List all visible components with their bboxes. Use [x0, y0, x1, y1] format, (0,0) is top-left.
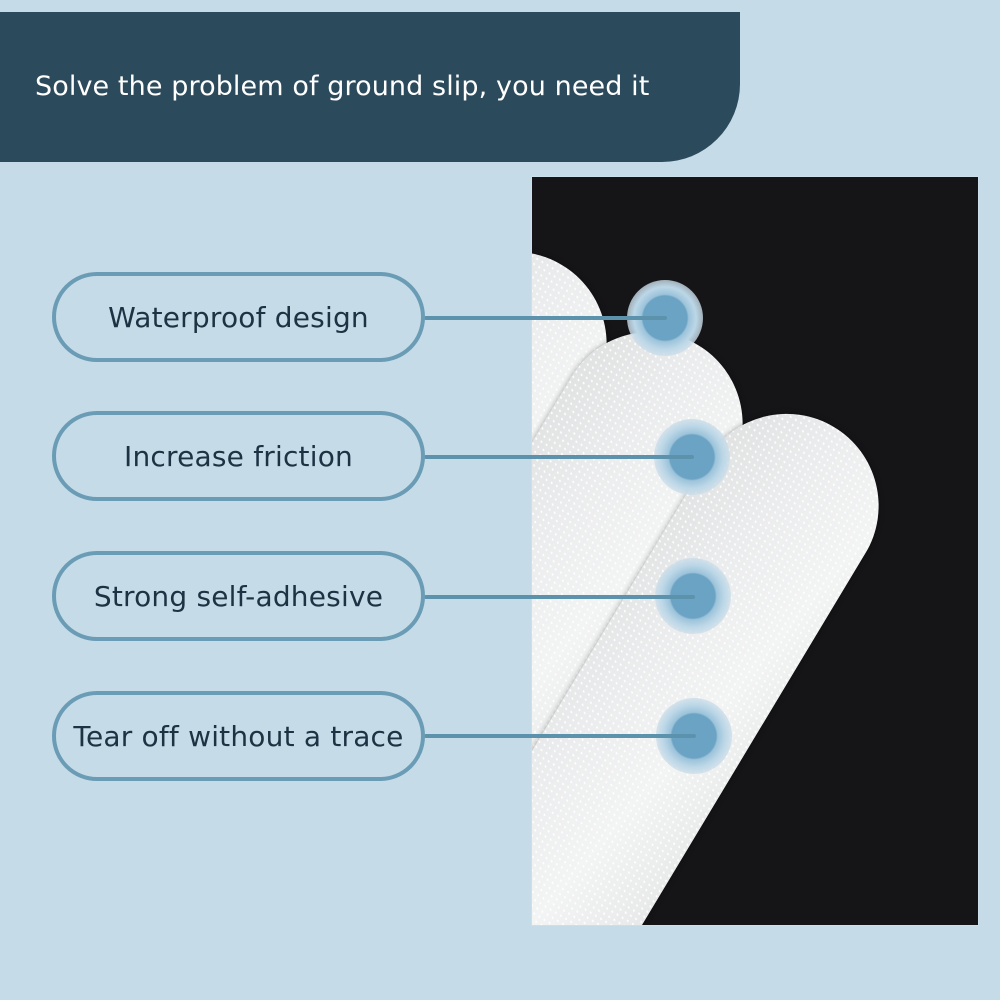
connector-line-tear-off-without-a-trace	[424, 734, 696, 738]
feature-pill-waterproof-design: Waterproof design	[52, 272, 425, 362]
feature-label: Strong self-adhesive	[94, 580, 383, 613]
connector-line-strong-self-adhesive	[424, 595, 695, 599]
connector-line-waterproof-design	[424, 316, 667, 320]
header-banner: Solve the problem of ground slip, you ne…	[0, 12, 740, 162]
product-photo	[532, 177, 978, 925]
photo-strips-layer	[532, 177, 978, 925]
product-infographic: Solve the problem of ground slip, you ne…	[0, 0, 1000, 1000]
feature-label: Tear off without a trace	[73, 720, 403, 753]
feature-pill-strong-self-adhesive: Strong self-adhesive	[52, 551, 425, 641]
connector-line-increase-friction	[424, 455, 694, 459]
feature-pill-increase-friction: Increase friction	[52, 411, 425, 501]
feature-label: Waterproof design	[108, 301, 369, 334]
feature-label: Increase friction	[124, 440, 353, 473]
page-title: Solve the problem of ground slip, you ne…	[35, 71, 649, 102]
feature-pill-tear-off-without-a-trace: Tear off without a trace	[52, 691, 425, 781]
